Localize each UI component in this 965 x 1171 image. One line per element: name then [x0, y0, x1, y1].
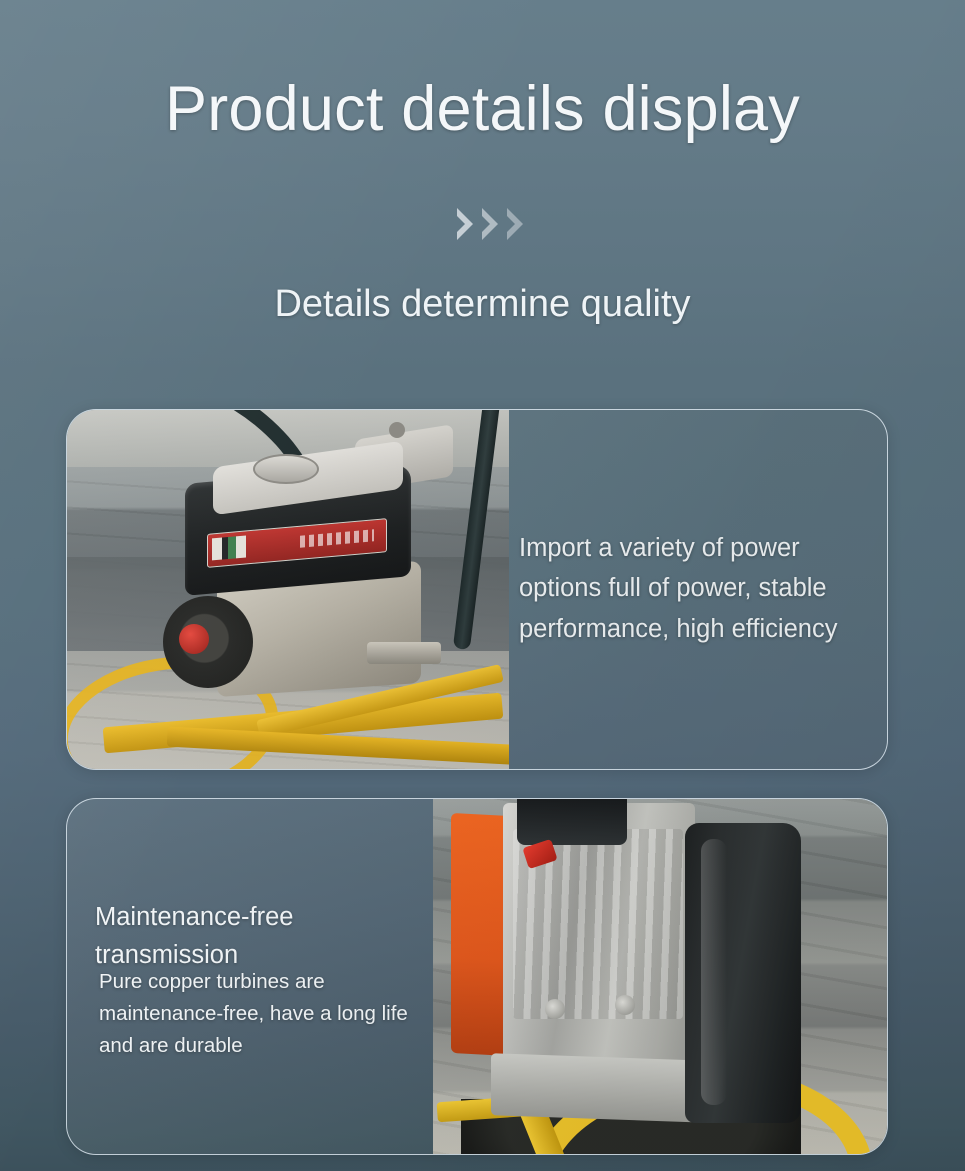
detail-card-transmission: Maintenance-free transmission Pure coppe… [66, 798, 888, 1155]
transmission-gearbox-photo [433, 799, 887, 1154]
product-details-page: Product details display Details determin… [0, 0, 965, 1171]
chevron-right-icon-2 [480, 206, 502, 242]
page-subtitle: Details determine quality [0, 283, 965, 327]
housing-bolt-left [545, 999, 565, 1019]
detail-card-power: Import a variety of power options full o… [66, 409, 888, 770]
chevron-right-icon-1 [455, 206, 477, 242]
housing-top-cover [517, 799, 627, 845]
air-cleaner-bolt [389, 422, 405, 438]
card-power-description: Import a variety of power options full o… [519, 528, 879, 649]
belt-guard-highlight [701, 839, 727, 1105]
page-title: Product details display [0, 75, 965, 144]
chevron-right-icon-3 [505, 206, 527, 242]
output-shaft [367, 642, 441, 664]
card-transmission-heading: Maintenance-free transmission [95, 899, 395, 974]
housing-bolt-right [615, 995, 635, 1015]
gasoline-engine-photo [67, 410, 509, 769]
red-knob [179, 624, 209, 654]
gearbox-base-plate [491, 1053, 709, 1123]
triple-chevron-right-icon [0, 206, 965, 242]
card-transmission-description: Pure copper turbines are maintenance-fre… [99, 966, 419, 1061]
fuel-cap [253, 454, 319, 484]
